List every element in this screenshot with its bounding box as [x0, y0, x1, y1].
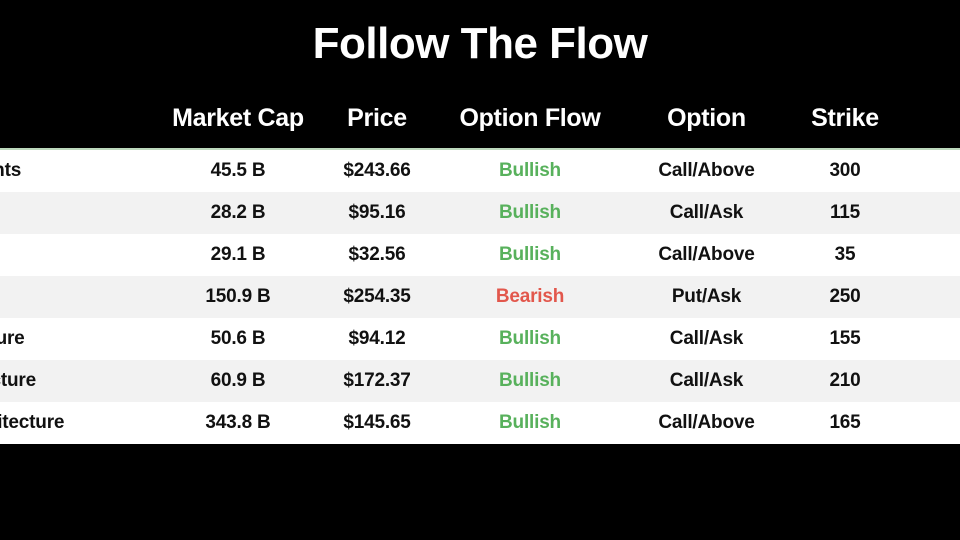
- footer-bar: [0, 444, 960, 540]
- cell-price: $172.37: [318, 360, 436, 402]
- cell-strike: 300: [789, 149, 901, 192]
- cell-price: $254.35: [318, 276, 436, 318]
- option-flow-badge: Bullish: [499, 370, 561, 391]
- column-header-option[interactable]: Option: [624, 88, 789, 149]
- option-flow-badge: Bearish: [496, 286, 564, 307]
- cell-strike: 115: [789, 192, 901, 234]
- cell-name: Texas Instruments: [0, 149, 158, 192]
- cell-exp: Jul 17, 2026: [901, 318, 960, 360]
- option-flow-badge: Bullish: [499, 244, 561, 265]
- cell-price: $145.65: [318, 402, 436, 444]
- table-viewport[interactable]: Company Market Cap Price Option Flow Opt…: [0, 88, 960, 444]
- cell-option: Call/Ask: [624, 318, 789, 360]
- cell-strike: 155: [789, 318, 901, 360]
- column-header-option-flow[interactable]: Option Flow: [436, 88, 624, 149]
- cell-option: Call/Above: [624, 234, 789, 276]
- table-row[interactable]: Texas Instruments45.5 B$243.66BullishCal…: [0, 149, 960, 192]
- cell-name: Arista Architecture: [0, 318, 158, 360]
- column-header-company[interactable]: Company: [0, 88, 158, 149]
- cell-option: Put/Ask: [624, 276, 789, 318]
- cell-strike: 165: [789, 402, 901, 444]
- cell-name: Marvell Architecture: [0, 360, 158, 402]
- cell-flow: Bullish: [436, 192, 624, 234]
- column-header-expiration[interactable]: Expiration: [901, 88, 960, 149]
- cell-strike: 250: [789, 276, 901, 318]
- table-body: Texas Instruments45.5 B$243.66BullishCal…: [0, 149, 960, 444]
- cell-flow: Bearish: [436, 276, 624, 318]
- table-row[interactable]: Marvell Architecture60.9 B$172.37Bullish…: [0, 360, 960, 402]
- cell-flow: Bullish: [436, 360, 624, 402]
- title-bar: Follow The Flow: [0, 0, 960, 88]
- cell-price: $243.66: [318, 149, 436, 192]
- column-header-strike[interactable]: Strike: [789, 88, 901, 149]
- cell-flow: Bullish: [436, 234, 624, 276]
- cell-price: $32.56: [318, 234, 436, 276]
- table-row[interactable]: Coherent29.1 B$32.56BullishCall/Above35M…: [0, 234, 960, 276]
- cell-flow: Bullish: [436, 318, 624, 360]
- cell-flow: Bullish: [436, 149, 624, 192]
- cell-mcap: 45.5 B: [158, 149, 318, 192]
- cell-name: Chevron: [0, 192, 158, 234]
- cell-option: Call/Ask: [624, 360, 789, 402]
- cell-exp: Feb 27, 2026: [901, 402, 960, 444]
- cell-option: Call/Above: [624, 402, 789, 444]
- cell-mcap: 29.1 B: [158, 234, 318, 276]
- page-title: Follow The Flow: [313, 22, 648, 66]
- cell-flow: Bullish: [436, 402, 624, 444]
- column-header-market-cap[interactable]: Market Cap: [158, 88, 318, 149]
- option-flow-badge: Bullish: [499, 160, 561, 181]
- cell-exp: Sept 18, 2026: [901, 149, 960, 192]
- cell-name: Coherent: [0, 234, 158, 276]
- cell-name: Caterpillar: [0, 276, 158, 318]
- option-flow-badge: Bullish: [499, 202, 561, 223]
- table-head: Company Market Cap Price Option Flow Opt…: [0, 88, 960, 149]
- slide-root: Follow The Flow Company Market Cap Price…: [0, 0, 960, 540]
- cell-mcap: 60.9 B: [158, 360, 318, 402]
- option-flow-badge: Bullish: [499, 328, 561, 349]
- table-row[interactable]: Broadcom Architecture343.8 B$145.65Bulli…: [0, 402, 960, 444]
- cell-mcap: 343.8 B: [158, 402, 318, 444]
- cell-mcap: 150.9 B: [158, 276, 318, 318]
- column-header-price[interactable]: Price: [318, 88, 436, 149]
- cell-exp: May 15, 2026: [901, 192, 960, 234]
- cell-name: Broadcom Architecture: [0, 402, 158, 444]
- cell-price: $94.12: [318, 318, 436, 360]
- cell-mcap: 50.6 B: [158, 318, 318, 360]
- option-flow-badge: Bullish: [499, 412, 561, 433]
- table-header-row: Company Market Cap Price Option Flow Opt…: [0, 88, 960, 149]
- option-flow-table: Company Market Cap Price Option Flow Opt…: [0, 88, 960, 444]
- table-row[interactable]: Arista Architecture50.6 B$94.12BullishCa…: [0, 318, 960, 360]
- cell-option: Call/Ask: [624, 192, 789, 234]
- cell-exp: May 15, 2026: [901, 234, 960, 276]
- cell-exp: Aug 21, 2026: [901, 360, 960, 402]
- cell-mcap: 28.2 B: [158, 192, 318, 234]
- cell-strike: 35: [789, 234, 901, 276]
- table-row[interactable]: Chevron28.2 B$95.16BullishCall/Ask115May…: [0, 192, 960, 234]
- cell-price: $95.16: [318, 192, 436, 234]
- cell-option: Call/Above: [624, 149, 789, 192]
- cell-strike: 210: [789, 360, 901, 402]
- table-row[interactable]: Caterpillar150.9 B$254.35BearishPut/Ask2…: [0, 276, 960, 318]
- cell-exp: Mar 20, 2026: [901, 276, 960, 318]
- table-scroll-inner: Company Market Cap Price Option Flow Opt…: [0, 88, 960, 444]
